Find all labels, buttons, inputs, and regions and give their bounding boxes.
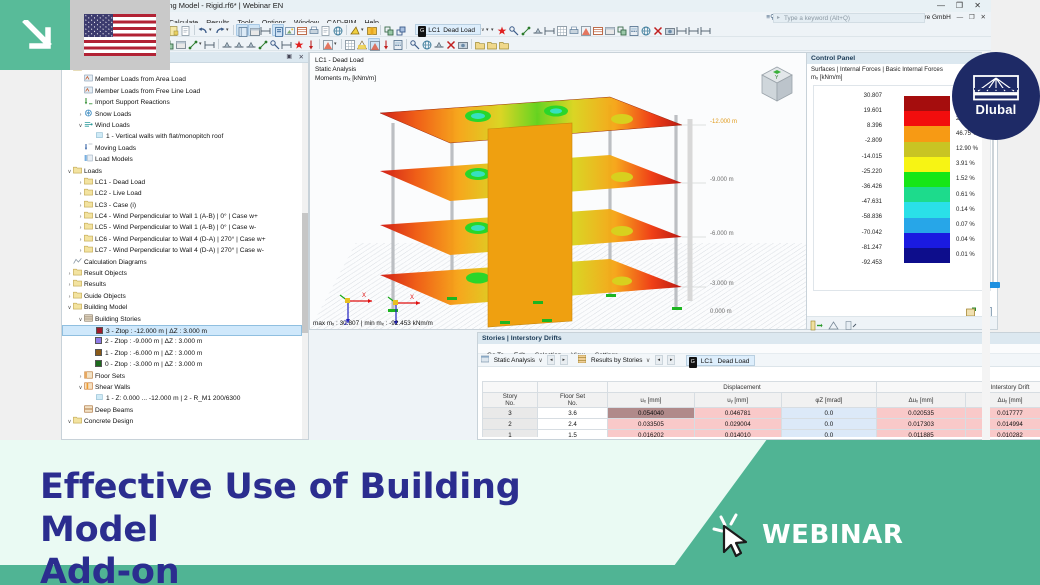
tree-item[interactable]: ∨Shear Walls xyxy=(62,382,302,393)
legend-value-label: -14.015 xyxy=(862,154,882,160)
legend-value-label: -81.247 xyxy=(862,245,882,251)
table-column-header[interactable]: StoryNo. xyxy=(483,393,538,408)
folder-icon xyxy=(84,188,93,196)
tree-item-label: Snow Loads xyxy=(95,111,131,118)
tree-item-label: LC6 - Wind Perpendicular to Wall 4 (D-A)… xyxy=(95,236,266,243)
line-button[interactable] xyxy=(204,38,216,50)
tree-item[interactable]: ›Floor Sets xyxy=(62,371,302,382)
cell-uy[interactable]: 0.029004 xyxy=(694,419,781,430)
tree-item[interactable]: Member Loads from Free Line Load xyxy=(62,86,302,97)
result-settings-button[interactable] xyxy=(392,38,404,50)
materials-button[interactable] xyxy=(349,24,361,36)
result-graph-icon[interactable] xyxy=(580,24,592,36)
legend-color-band[interactable] xyxy=(904,126,950,141)
axis-label-z: Z xyxy=(344,321,348,327)
result-member-button[interactable] xyxy=(380,38,392,50)
view-label-analysis: Static Analysis xyxy=(315,65,376,74)
us-flag-icon xyxy=(84,14,156,56)
toolbar-separator xyxy=(406,39,407,49)
legend-value-label: 8.396 xyxy=(867,123,882,129)
wizard-icon xyxy=(84,74,93,82)
legend-value-label: -58.836 xyxy=(862,214,882,220)
tree-item[interactable]: ∨Building Stories xyxy=(62,314,302,325)
folder-icon xyxy=(84,234,93,242)
table-panel-toolbar: Static Analysis ∨ ◂ ▸ Results by Stories… xyxy=(478,354,1040,367)
level-label-3: -3.000 m xyxy=(710,281,734,287)
rotate-button[interactable] xyxy=(421,38,433,50)
legend-color-band[interactable] xyxy=(904,111,950,126)
tree-item-label: Building Stories xyxy=(95,316,141,323)
sections-button[interactable] xyxy=(366,24,378,36)
result-pick-icon[interactable] xyxy=(508,24,520,36)
angle-button[interactable] xyxy=(281,38,293,50)
cell-delta-uy[interactable]: 0.010282 xyxy=(965,430,1040,438)
tree-item[interactable]: ∨Wind Loads xyxy=(62,120,302,131)
story-color-swatch xyxy=(95,349,102,356)
floor-icon xyxy=(84,371,93,379)
cell-delta-ux[interactable]: 0.017303 xyxy=(877,419,966,430)
table-panel-menu: Go ToEditSelectionViewSettings xyxy=(478,344,1040,354)
tree-item[interactable]: Deep Beams xyxy=(62,405,302,416)
story-color-swatch xyxy=(95,337,102,344)
close-icon[interactable]: ✕ xyxy=(299,52,304,63)
tree-item-label: LC5 - Wind Perpendicular to Wall 1 (A-B)… xyxy=(95,224,256,231)
globe-button[interactable] xyxy=(332,24,344,36)
building-model-graphic xyxy=(310,53,809,330)
legend-value-label: -25.220 xyxy=(862,169,882,175)
dimension-button[interactable] xyxy=(260,24,272,36)
loadcase-name: Dead Load xyxy=(443,25,475,36)
member-button-2[interactable] xyxy=(233,38,245,50)
tree-item-label: 0 - Ztop : -3.000 m | ΔZ : 3.000 m xyxy=(105,361,202,368)
tree-item-label: LC3 - Case (i) xyxy=(95,202,136,209)
tree-item-label: 3 - Ztop : -12.000 m | ΔZ : 3.000 m xyxy=(106,328,207,335)
dlubal-logo-text: Dlubal xyxy=(976,102,1017,117)
us-flag-badge xyxy=(70,0,170,70)
tree-item-label: 1 - Z: 0.000 ... -12.000 m | 2 - R_M1 20… xyxy=(106,395,240,402)
analysis-prev-button[interactable]: ◂ xyxy=(547,355,555,365)
control-panel-tabs xyxy=(807,316,997,329)
result-star-icon[interactable] xyxy=(496,24,508,36)
legend-value-label: -70.042 xyxy=(862,230,882,236)
tree-item-label: Import Support Reactions xyxy=(95,99,170,106)
cell-story-no[interactable]: 3 xyxy=(483,408,538,419)
results-tab-icon[interactable] xyxy=(810,318,823,329)
cell-phiz[interactable]: 0.0 xyxy=(781,419,876,430)
toolbar-separator xyxy=(341,39,342,49)
results-dropdown-icon[interactable]: ∨ xyxy=(644,356,650,367)
tree-item[interactable]: Load Models xyxy=(62,154,302,165)
legend-percent-label: 3.91 % xyxy=(956,161,975,167)
legend-percent-label: 0.14 % xyxy=(956,207,975,213)
results-prev-button[interactable]: ◂ xyxy=(655,355,663,365)
banner-title-line1: Effective Use of Building Model xyxy=(40,466,650,551)
hinge-button[interactable] xyxy=(269,38,281,50)
wind-icon xyxy=(84,120,93,128)
tree-item-label: Building Model xyxy=(84,304,127,311)
toolbar-primary: ▾▾▾▾GLC1Dead Load∨▾▾ xyxy=(161,23,991,37)
result-surface-button[interactable] xyxy=(368,38,380,50)
wizard-icon xyxy=(84,86,93,94)
legend-percent-label: 0.07 % xyxy=(956,222,975,228)
screenshot-button[interactable] xyxy=(284,24,296,36)
legend-color-band[interactable] xyxy=(904,202,950,217)
tree-item-label: Guide Objects xyxy=(84,293,126,300)
item-icon xyxy=(95,393,104,401)
result-table-icon[interactable] xyxy=(556,24,568,36)
tree-item[interactable]: Calculation Diagrams xyxy=(62,257,302,268)
tree-item[interactable]: 2 - Ztop : -9.000 m | ΔZ : 3.000 m xyxy=(62,336,302,347)
dlubal-truss-icon xyxy=(973,75,1019,101)
legend-value-label: -92.453 xyxy=(862,260,882,266)
analysis-icon xyxy=(481,355,489,363)
view-cube-icon[interactable]: Y xyxy=(754,61,800,107)
analysis-type-select[interactable]: Static Analysis ∨ xyxy=(481,355,543,366)
table-panel-title: Stories | Interstory Drifts pin-icon ✕ xyxy=(478,333,1040,344)
table-group-header xyxy=(483,382,538,393)
print-button[interactable] xyxy=(308,24,320,36)
table-column-header[interactable]: φZ [mrad] xyxy=(781,393,876,408)
axis-label-x-left: X xyxy=(362,293,366,299)
legend-percent-label: 0.04 % xyxy=(956,237,975,243)
legend-percent-label: 0.61 % xyxy=(956,192,975,198)
cell-ux[interactable]: 0.016202 xyxy=(607,430,694,438)
tree-item[interactable]: ›LC6 - Wind Perpendicular to Wall 4 (D-A… xyxy=(62,234,302,245)
click-cursor-icon xyxy=(712,512,756,558)
navigator-toggle-button[interactable] xyxy=(236,24,248,36)
legend-color-band[interactable] xyxy=(904,233,950,248)
toolbar-separator xyxy=(218,39,219,49)
level-label-0: -12.000 m xyxy=(710,119,737,125)
toolbar-separator xyxy=(380,25,381,35)
story-color-swatch xyxy=(95,360,102,367)
factors-tab-icon[interactable] xyxy=(845,318,858,329)
result-mesh-icon[interactable] xyxy=(604,24,616,36)
toolbar-separator xyxy=(319,39,320,49)
tree-item[interactable]: ∨Building Model xyxy=(62,302,302,313)
folder-icon xyxy=(84,245,93,253)
table-loadcase-code: LC1 xyxy=(701,358,713,365)
cell-ux[interactable]: 0.033505 xyxy=(607,419,694,430)
result-dim-x-icon[interactable] xyxy=(676,24,688,36)
toolbar-separator xyxy=(346,25,347,35)
folder-icon xyxy=(84,200,93,208)
cell-delta-uy[interactable]: 0.014994 xyxy=(965,419,1040,430)
tree-item-label: Shear Walls xyxy=(95,384,130,391)
tree-item[interactable]: 3 - Ztop : -12.000 m | ΔZ : 3.000 m xyxy=(62,325,302,336)
rfem-window: ling Model - Rigid.rf6* | Webinar EN — ❐… xyxy=(160,0,990,440)
arrow-down-right-icon xyxy=(22,20,62,54)
tree-item-label: LC4 - Wind Perpendicular to Wall 1 (A-B)… xyxy=(95,213,258,220)
surface-load-button[interactable] xyxy=(293,38,305,50)
result-support-icon[interactable] xyxy=(532,24,544,36)
tree-item[interactable]: ›LC7 - Wind Perpendicular to Wall 4 (D-A… xyxy=(62,245,302,256)
tree-item-label: LC1 - Dead Load xyxy=(95,179,145,186)
tree-item[interactable]: ∨Concrete Design xyxy=(62,416,302,427)
legend-value-label: -36.426 xyxy=(862,184,882,190)
navigator-tree[interactable]: ∨Load WizardsMember Loads from Area Load… xyxy=(62,63,302,439)
models-icon xyxy=(84,154,93,162)
tree-item[interactable]: ›LC1 - Dead Load xyxy=(62,177,302,188)
loadcase-code: LC1 xyxy=(428,27,440,34)
table-loadcase-chip: G xyxy=(689,357,697,368)
tree-item[interactable]: ›LC2 - Live Load xyxy=(62,188,302,199)
legend-value-label: -2.809 xyxy=(865,138,882,144)
legend-color-band[interactable] xyxy=(904,218,950,233)
diagram-icon xyxy=(73,257,82,265)
tree-item[interactable]: ›LC5 - Wind Perpendicular to Wall 1 (A-B… xyxy=(62,222,302,233)
legend-percent-label: 0.01 % xyxy=(956,252,975,258)
member-button-3[interactable] xyxy=(245,38,257,50)
cell-phiz[interactable]: 0.0 xyxy=(781,408,876,419)
interstory-drifts-table-wrap[interactable]: DisplacementInterstory DriftStoryNo.Floo… xyxy=(482,381,1040,437)
tree-item-label: Floor Sets xyxy=(95,373,125,380)
result-dim-y-icon[interactable] xyxy=(688,24,700,36)
table-panel-title-text: Stories | Interstory Drifts xyxy=(482,335,562,342)
folder-icon xyxy=(73,416,82,424)
printout-report-button[interactable] xyxy=(296,24,308,36)
table-group-header: Interstory Drift xyxy=(877,382,1040,393)
table-row[interactable]: 22.40.0335050.0290040.00.0173030.0149940… xyxy=(483,419,1040,430)
folder-icon xyxy=(73,302,82,310)
table-header-row: StoryNo.Floor SetNo.uₓ [mm]uᵧ [mm]φZ [mr… xyxy=(483,393,1040,408)
results-mode-value: Results by Stories xyxy=(591,357,643,364)
view-result-label: LC1 - Dead Load Static Analysis Moments … xyxy=(315,56,376,83)
print-preview-button[interactable] xyxy=(272,24,284,36)
tree-item-label: Results xyxy=(84,281,106,288)
window-close-button[interactable]: ✕ xyxy=(974,0,981,12)
tree-item-label: Deep Beams xyxy=(95,407,133,414)
tree-item[interactable]: ›Snow Loads xyxy=(62,109,302,120)
legend-value-label: -47.631 xyxy=(862,199,882,205)
print-a-button[interactable] xyxy=(474,38,486,50)
cell-story-no[interactable]: 1 xyxy=(483,430,538,438)
result-hinge-icon[interactable] xyxy=(544,24,556,36)
tree-item[interactable]: 1 - Vertical walls with flat/monopitch r… xyxy=(62,131,302,142)
result-cam-icon[interactable] xyxy=(664,24,676,36)
table-loadcase-name: Dead Load xyxy=(718,356,750,367)
interstory-drifts-panel: Stories | Interstory Drifts pin-icon ✕ G… xyxy=(477,332,1040,440)
redo-button[interactable] xyxy=(214,24,226,36)
legend-color-band[interactable] xyxy=(904,248,950,263)
window-maximize-button[interactable]: ❐ xyxy=(956,0,963,12)
cell-phiz[interactable]: 0.0 xyxy=(781,430,876,438)
results-next-button[interactable]: ▸ xyxy=(667,355,675,365)
banner-webinar-label: WEBINAR xyxy=(762,520,903,550)
analysis-dropdown-icon[interactable]: ∨ xyxy=(537,356,543,367)
measure-button[interactable] xyxy=(409,38,421,50)
tree-item-label: LC7 - Wind Perpendicular to Wall 4 (D-A)… xyxy=(95,247,264,254)
legend-color-band[interactable] xyxy=(904,142,950,157)
tree-item-label: Calculation Diagrams xyxy=(84,259,147,266)
legend-percent-label: 12.90 % xyxy=(956,146,978,152)
screenshot-root: ling Model - Rigid.rf6* | Webinar EN — ❐… xyxy=(0,0,1040,585)
webinar-banner: Effective Use of Building Model Add-on W… xyxy=(0,440,1040,585)
table-row[interactable]: 11.50.0162020.0140100.00.0118850.0102820… xyxy=(483,430,1040,438)
tree-item-label: 2 - Ztop : -9.000 m | ΔZ : 3.000 m xyxy=(105,338,202,345)
tree-item[interactable]: 1 - Z: 0.000 ... -12.000 m | 2 - R_M1 20… xyxy=(62,393,302,404)
stories-icon xyxy=(84,314,93,322)
level-label-1: -9.000 m xyxy=(710,177,734,183)
beam-icon xyxy=(84,405,93,413)
legend-color-band[interactable] xyxy=(904,187,950,202)
load-button[interactable] xyxy=(305,38,317,50)
result-chart-icon[interactable] xyxy=(592,24,604,36)
view-label-loadcase: LC1 - Dead Load xyxy=(315,56,376,65)
window-minimize-button[interactable]: — xyxy=(937,0,945,12)
result-glob-icon[interactable] xyxy=(640,24,652,36)
tree-item[interactable]: ›Guide Objects xyxy=(62,291,302,302)
cell-uy[interactable]: 0.046781 xyxy=(694,408,781,419)
banner-title-line2: Add-on xyxy=(40,551,650,585)
result-mesh2-icon[interactable] xyxy=(616,24,628,36)
table-group-header xyxy=(538,382,608,393)
visibility-button-2[interactable] xyxy=(395,24,407,36)
interstory-drifts-table[interactable]: DisplacementInterstory DriftStoryNo.Floo… xyxy=(482,381,1040,437)
cell-floor-set-no[interactable]: 2.4 xyxy=(538,419,608,430)
redo-dropdown[interactable]: ▾ xyxy=(226,23,231,35)
tree-item-label: Concrete Design xyxy=(84,418,133,425)
loadcase-chip: G xyxy=(418,26,426,37)
toolbar-secondary: ▾▾ xyxy=(161,37,991,51)
tree-item-label: Wind Loads xyxy=(95,122,130,129)
banner-title: Effective Use of Building Model Add-on xyxy=(40,466,650,585)
legend-percent-label: 1.52 % xyxy=(956,176,975,182)
pin-icon[interactable]: ▣ xyxy=(286,52,292,63)
folder-icon xyxy=(73,166,82,174)
print-c-button[interactable] xyxy=(498,38,510,50)
table-column-header[interactable]: uᵧ [mm] xyxy=(694,393,781,408)
member-button-1[interactable] xyxy=(221,38,233,50)
legend-color-band[interactable] xyxy=(904,172,950,187)
window-titlebar: ling Model - Rigid.rf6* | Webinar EN — ❐… xyxy=(161,0,991,12)
dlubal-logo-badge: Dlubal xyxy=(952,52,1040,140)
legend-color-band[interactable] xyxy=(904,96,950,111)
item-icon xyxy=(95,131,104,139)
cell-ux[interactable]: 0.054040 xyxy=(607,408,694,419)
cell-delta-uy[interactable]: 0.017777 xyxy=(965,408,1040,419)
delete-button[interactable] xyxy=(445,38,457,50)
legend-color-band[interactable] xyxy=(904,157,950,172)
document-button[interactable] xyxy=(320,24,332,36)
tree-item-label: LC2 - Live Load xyxy=(95,190,142,197)
tree-twisty-icon[interactable]: ∨ xyxy=(66,417,73,428)
cell-delta-ux[interactable]: 0.011885 xyxy=(877,430,966,438)
table-row[interactable]: 33.60.0540400.0467810.00.0205350.0177770… xyxy=(483,408,1040,419)
tree-item[interactable]: ∨Loads xyxy=(62,166,302,177)
wall-icon xyxy=(84,382,93,390)
application-screenshot: ling Model - Rigid.rf6* | Webinar EN — ❐… xyxy=(0,0,1040,440)
results-colors-button[interactable] xyxy=(322,38,334,50)
model-3d-view[interactable]: LC1 - Dead Load Static Analysis Moments … xyxy=(309,52,809,330)
tree-item-label: Load Models xyxy=(95,156,133,163)
window-title: ling Model - Rigid.rf6* | Webinar EN xyxy=(165,1,283,10)
tree-item-label: 1 - Ztop : -6.000 m | ΔZ : 3.000 m xyxy=(105,350,202,357)
table-toggle-button[interactable] xyxy=(248,24,260,36)
axis-label-x-right: X xyxy=(410,295,414,301)
tree-item[interactable]: ›Results xyxy=(62,279,302,290)
display-tab-icon[interactable] xyxy=(827,318,840,329)
tree-item[interactable]: Member Loads from Area Load xyxy=(62,74,302,85)
table-column-header[interactable]: uₓ [mm] xyxy=(607,393,694,408)
tree-item[interactable]: ›Result Objects xyxy=(62,268,302,279)
support-button[interactable] xyxy=(257,38,269,50)
tree-item[interactable]: 1 - Ztop : -6.000 m | ΔZ : 3.000 m xyxy=(62,348,302,359)
cell-uy[interactable]: 0.014010 xyxy=(694,430,781,438)
table-group-header-row: DisplacementInterstory Drift xyxy=(483,382,1040,393)
navigator-scrollbar[interactable] xyxy=(302,63,308,439)
tree-item-label: Loads xyxy=(84,168,102,175)
tree-item[interactable]: ›LC3 - Case (i) xyxy=(62,200,302,211)
tree-item[interactable]: Import Support Reactions xyxy=(62,97,302,108)
toolbar-separator xyxy=(471,39,472,49)
result-calc-icon[interactable] xyxy=(628,24,640,36)
table-column-header[interactable]: Floor SetNo. xyxy=(538,393,608,408)
result-diagram-button[interactable] xyxy=(356,38,368,50)
cell-delta-ux[interactable]: 0.020535 xyxy=(877,408,966,419)
print-b-button[interactable] xyxy=(486,38,498,50)
snapshot-button[interactable] xyxy=(457,38,469,50)
folder-icon xyxy=(73,268,82,276)
keyword-search-input[interactable]: Type a keyword (Alt+Q) xyxy=(773,13,925,23)
visibility-button-1[interactable] xyxy=(383,24,395,36)
tree-item-label: Member Loads from Free Line Load xyxy=(95,88,200,95)
open-model-button[interactable] xyxy=(180,24,192,36)
node-display-button[interactable] xyxy=(187,38,199,50)
warning-button[interactable] xyxy=(433,38,445,50)
level-label-4: 0.000 m xyxy=(710,309,732,315)
cell-floor-set-no[interactable]: 1.5 xyxy=(538,430,608,438)
folder-icon xyxy=(84,222,93,230)
surface-display-button[interactable] xyxy=(175,38,187,50)
result-print-icon[interactable] xyxy=(568,24,580,36)
results-colors-dropdown[interactable]: ▾ xyxy=(334,37,339,49)
results-mode-select[interactable]: Results by Stories ∨ xyxy=(578,355,650,366)
toolbar-separator xyxy=(233,25,234,35)
table-group-header: Displacement xyxy=(607,382,876,393)
cell-floor-set-no[interactable]: 3.6 xyxy=(538,408,608,419)
result-cross-icon[interactable] xyxy=(652,24,664,36)
table-loadcase-select[interactable]: G LC1 Dead Load xyxy=(686,355,756,366)
table-column-header[interactable]: Δuᵧ [mm] xyxy=(965,393,1040,408)
folder-icon xyxy=(73,291,82,299)
loadcase-select[interactable]: GLC1Dead Load xyxy=(415,24,481,35)
tree-item-label: Member Loads from Area Load xyxy=(95,76,186,83)
analysis-next-button[interactable]: ▸ xyxy=(560,355,568,365)
toolbar-separator xyxy=(194,25,195,35)
cell-story-no[interactable]: 2 xyxy=(483,419,538,430)
table-column-header[interactable]: Δuₓ [mm] xyxy=(877,393,966,408)
navigator-panel: Navigator - Data ▣ ✕ ∨Load WizardsMember… xyxy=(61,52,309,440)
result-dim-z-icon[interactable] xyxy=(700,24,712,36)
tree-item[interactable]: Moving Loads xyxy=(62,143,302,154)
tree-item[interactable]: ›LC4 - Wind Perpendicular to Wall 1 (A-B… xyxy=(62,211,302,222)
level-label-2: -6.000 m xyxy=(710,231,734,237)
folder-icon xyxy=(73,279,82,287)
view-minmax-label: max mₓ : 30.807 | min mₓ : -92.453 kNm/m xyxy=(313,320,433,327)
analysis-type-value: Static Analysis xyxy=(494,357,535,364)
result-node-icon[interactable] xyxy=(520,24,532,36)
tree-item[interactable]: 0 - Ztop : -3.000 m | ΔZ : 3.000 m xyxy=(62,359,302,370)
legend-value-label: 19.601 xyxy=(864,108,882,114)
folder-icon xyxy=(84,211,93,219)
import-icon xyxy=(84,97,93,105)
tree-item-label: 1 - Vertical walls with flat/monopitch r… xyxy=(106,133,223,140)
undo-button[interactable] xyxy=(197,24,209,36)
view-label-quantity: Moments mₓ [kNm/m] xyxy=(315,74,376,83)
result-table-button[interactable] xyxy=(344,38,356,50)
story-color-swatch xyxy=(96,327,103,334)
